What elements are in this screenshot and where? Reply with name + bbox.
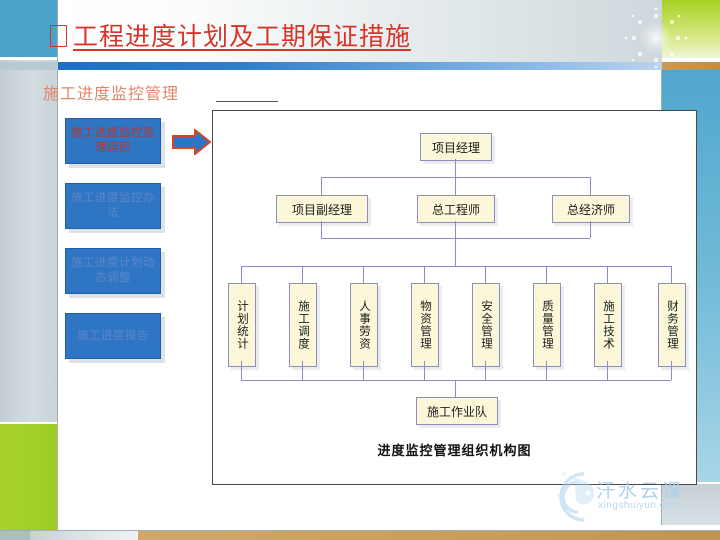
slide-canvas: 工程进度计划及工期保证措施 施工进度监控管理 施工进度监控管理组织 施工进度监控… [0,0,720,540]
sidebar-item-2[interactable]: 施工进度计划动态调整 [65,248,161,294]
org-node-l3-0: 计划统计 [228,283,256,367]
org-connector [546,361,547,380]
org-connector [607,361,608,380]
sidebar-item-label-1: 施工进度监控办法 [66,191,160,221]
org-node-l2-0: 项目副经理 [276,195,368,223]
watermark-url: xingshuiyun.com [598,500,680,511]
org-node-l3-2: 人事劳资 [350,283,378,367]
org-node-l1-0: 项目经理 [420,133,492,161]
org-connector [455,380,456,397]
org-chart: 项目经理 项目副经理 总工程师 总经济师 [213,111,696,484]
org-connector [363,361,364,380]
page-title-text: 工程进度计划及工期保证措施 [73,22,411,51]
org-connector [671,266,672,283]
org-connector [241,266,242,283]
org-connector [241,361,242,380]
sidebar-item-3[interactable]: 施工进度报告 [65,313,161,359]
org-connector [455,221,456,238]
org-node-l2-2: 总经济师 [552,195,630,223]
org-connector [455,177,456,195]
content-panel: 项目经理 项目副经理 总工程师 总经济师 [212,110,697,485]
org-node-l3-5: 质量管理 [533,283,561,367]
section-subtitle: 施工进度监控管理 [43,80,179,104]
org-node-l3-7: 财务管理 [658,283,686,367]
sidebar-item-label-2: 施工进度计划动态调整 [66,256,160,286]
org-node-l3-1: 施工调度 [289,283,317,367]
watermark-brand: 汗水云课 [596,476,684,503]
org-connector [590,177,591,195]
org-node-l3-3: 物资管理 [411,283,439,367]
org-node-l4-0: 施工作业队 [416,397,498,425]
org-connector [455,238,456,266]
org-connector [485,266,486,283]
header-accent-rule-left [0,62,58,70]
sidebar-item-0[interactable]: 施工进度监控管理组织 [65,118,161,164]
chart-caption: 进度监控管理组织机构图 [213,440,696,459]
footer-left-gray-block [0,531,30,540]
org-connector [546,266,547,283]
org-connector [424,266,425,283]
org-connector [424,361,425,380]
sidebar-item-label-3: 施工进度报告 [73,329,153,344]
header-accent-rule [58,62,662,70]
org-connector [671,361,672,380]
footer-tan-band [138,531,720,540]
org-connector [302,361,303,380]
org-connector [485,361,486,380]
org-connector [363,266,364,283]
subtitle-underline [216,101,278,102]
org-node-l2-1: 总工程师 [417,195,495,223]
org-connector [321,177,322,195]
sidebar-item-1[interactable]: 施工进度监控办法 [65,183,161,229]
org-connector [321,221,322,238]
org-node-l3-4: 安全管理 [472,283,500,367]
org-connector [607,266,608,283]
org-connector [590,221,591,238]
sidebar-item-label-0: 施工进度监控管理组织 [66,126,160,156]
decor-left-gray-bar [0,60,58,422]
right-arrow-icon [172,129,212,155]
decor-left-green-bar [0,424,58,531]
org-connector [455,159,456,177]
org-connector [241,380,671,381]
org-connector [302,266,303,283]
page-title: 工程进度计划及工期保证措施 [50,16,650,58]
title-bullet-icon [50,25,67,47]
org-node-l3-6: 施工技术 [594,283,622,367]
